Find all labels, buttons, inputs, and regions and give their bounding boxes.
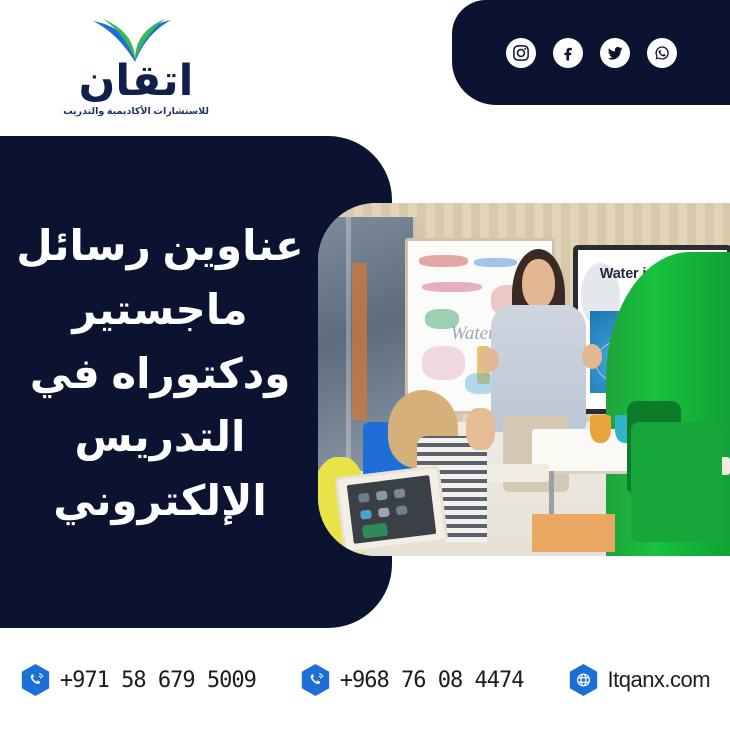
classroom-photo: 2n - Pl² - 2 Water Water in our life xyxy=(318,203,730,556)
phone-icon xyxy=(20,663,51,697)
phone-icon xyxy=(300,663,331,697)
whiteboard-word: Water xyxy=(451,323,496,345)
contact-value: +971 58 679 5009 xyxy=(60,668,256,693)
contact-website[interactable]: Itqanx.com xyxy=(568,663,711,697)
globe-icon xyxy=(568,663,599,697)
tablet-device xyxy=(334,465,447,554)
logo-wordmark: اتقان xyxy=(46,60,226,103)
contact-value: Itqanx.com xyxy=(608,667,711,693)
promo-banner: اتقان للاستشارات الأكاديمية والتدريب عنا… xyxy=(0,0,730,730)
logo-subtitle: للاستشارات الأكاديمية والتدريب xyxy=(46,106,226,117)
social-links xyxy=(452,0,730,105)
contact-value: +968 76 08 4474 xyxy=(340,668,524,693)
instagram-icon[interactable] xyxy=(506,38,536,68)
teacher-figure xyxy=(491,305,586,432)
footer-contacts: +971 58 679 5009 +968 76 08 4474 Itqanx.… xyxy=(0,630,730,730)
twitter-icon[interactable] xyxy=(600,38,630,68)
contact-phone-uae[interactable]: +971 58 679 5009 xyxy=(20,663,256,697)
facebook-icon[interactable] xyxy=(553,38,583,68)
page-title: عناوين رسائل ماجستير ودكتوراه في التدريس… xyxy=(10,214,310,533)
brand-logo: اتقان للاستشارات الأكاديمية والتدريب xyxy=(46,16,226,116)
contact-phone-oman[interactable]: +968 76 08 4474 xyxy=(300,663,524,697)
whatsapp-icon[interactable] xyxy=(647,38,677,68)
